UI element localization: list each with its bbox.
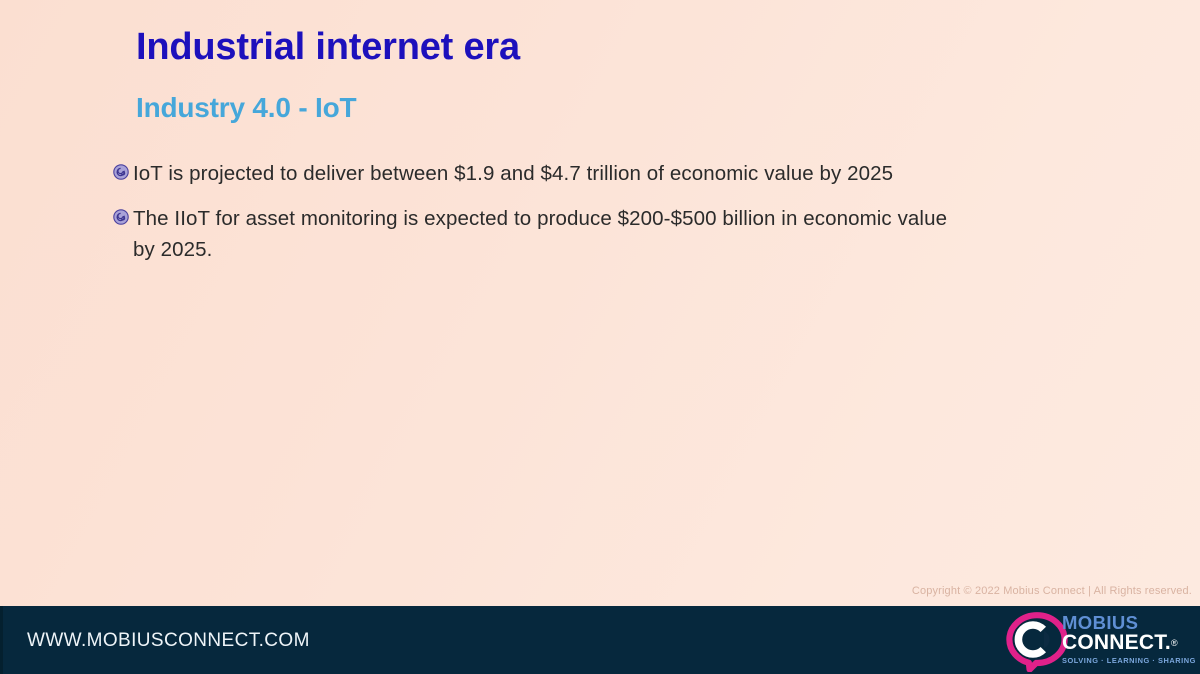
copyright-notice: Copyright © 2022 Mobius Connect | All Ri… — [912, 585, 1192, 597]
mobius-connect-speech-bubble-icon — [1006, 612, 1068, 672]
brand-logo[interactable]: MOBIUS CONNECT.® SOLVING · LEARNING · SH… — [1000, 608, 1196, 674]
list-item-label: IoT is projected to deliver between $1.9… — [133, 158, 1093, 189]
logo-word-connect-text: CONNECT — [1062, 631, 1165, 654]
spiral-bullet-icon — [113, 209, 129, 225]
page-title: Industrial internet era — [136, 24, 520, 70]
page-subtitle: Industry 4.0 - IoT — [136, 90, 356, 126]
spiral-bullet-icon — [113, 164, 129, 180]
logo-word-connect: CONNECT.® — [1062, 632, 1196, 654]
list-item: The IIoT for asset monitoring is expecte… — [113, 203, 1093, 265]
website-url[interactable]: WWW.MOBIUSCONNECT.COM — [27, 630, 310, 652]
bullet-list: IoT is projected to deliver between $1.9… — [113, 158, 1093, 279]
list-item-label: The IIoT for asset monitoring is expecte… — [133, 203, 1093, 265]
list-item: IoT is projected to deliver between $1.9… — [113, 158, 1093, 189]
logo-wordmark: MOBIUS CONNECT.® SOLVING · LEARNING · SH… — [1062, 613, 1196, 665]
slide-footer: WWW.MOBIUSCONNECT.COM MOBIUS CONNECT.® S… — [0, 606, 1200, 674]
logo-tagline: SOLVING · LEARNING · SHARING — [1062, 656, 1196, 665]
registered-trademark-icon: ® — [1171, 638, 1178, 648]
logo-word-mobius: MOBIUS — [1062, 613, 1196, 632]
list-item-line-2: by 2025. — [133, 234, 1093, 265]
presentation-slide: Industrial internet era Industry 4.0 - I… — [0, 0, 1200, 674]
list-item-line-1: The IIoT for asset monitoring is expecte… — [133, 207, 947, 230]
